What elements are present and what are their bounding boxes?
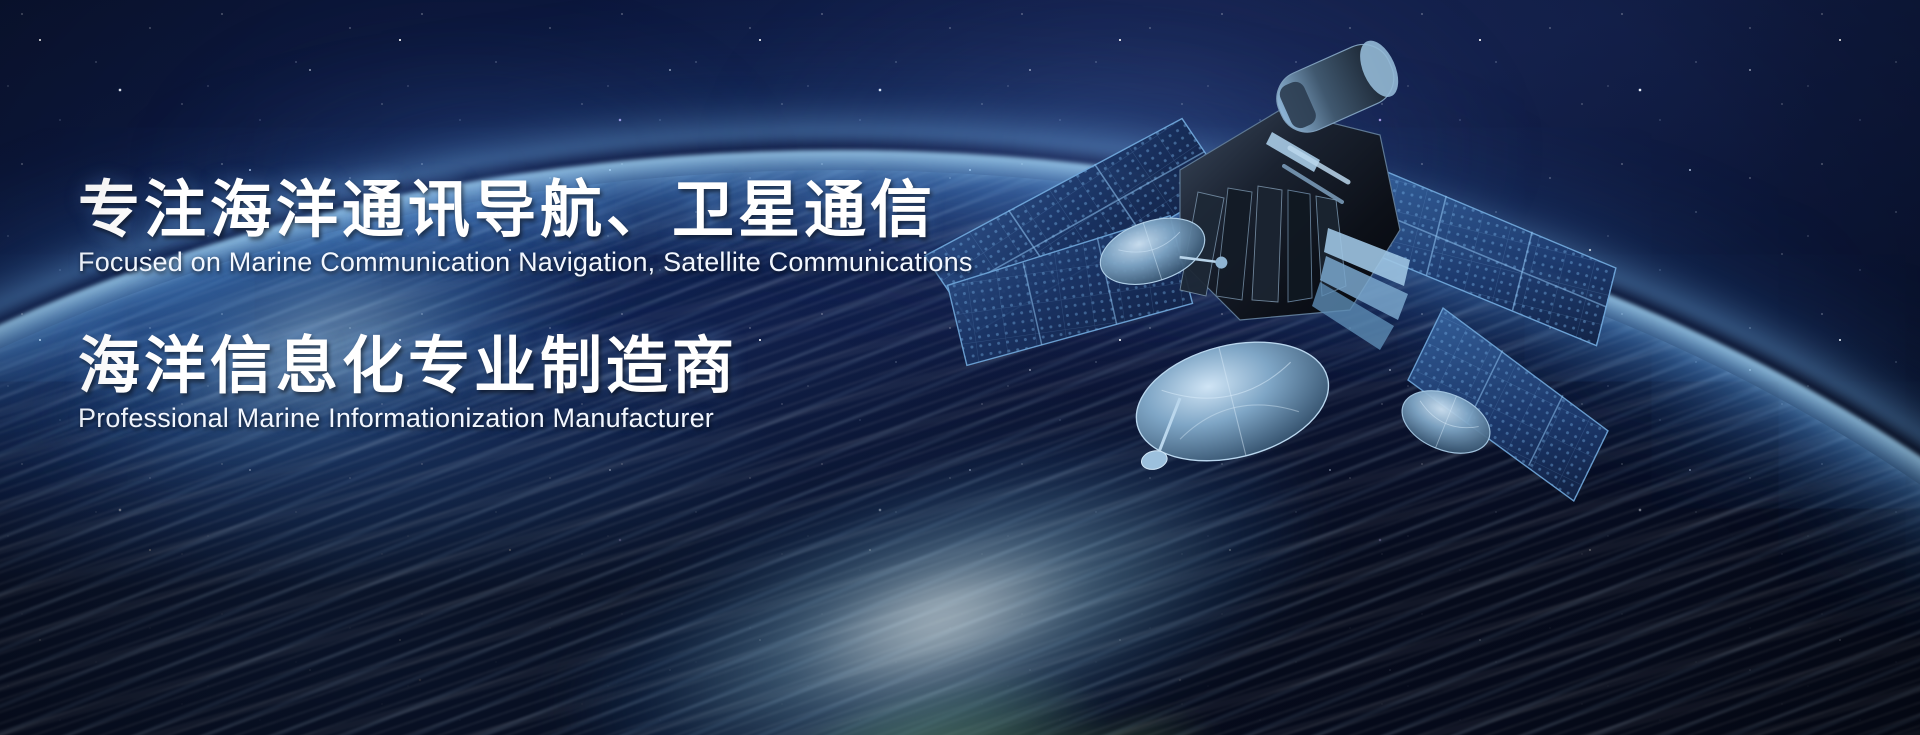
hero-banner: 专注海洋通讯导航、卫星通信 Focused on Marine Communic… (0, 0, 1920, 735)
headline-primary: 专注海洋通讯导航、卫星通信 (78, 178, 1078, 243)
copy-block-two: 海洋信息化专业制造商 Professional Marine Informati… (78, 334, 1078, 434)
copy-block-one: 专注海洋通讯导航、卫星通信 Focused on Marine Communic… (78, 178, 1078, 278)
subheadline-primary: Focused on Marine Communication Navigati… (78, 247, 1078, 278)
headline-secondary: 海洋信息化专业制造商 (78, 334, 1078, 399)
banner-copy: 专注海洋通讯导航、卫星通信 Focused on Marine Communic… (78, 178, 1078, 434)
subheadline-secondary: Professional Marine Informationization M… (78, 403, 1078, 434)
